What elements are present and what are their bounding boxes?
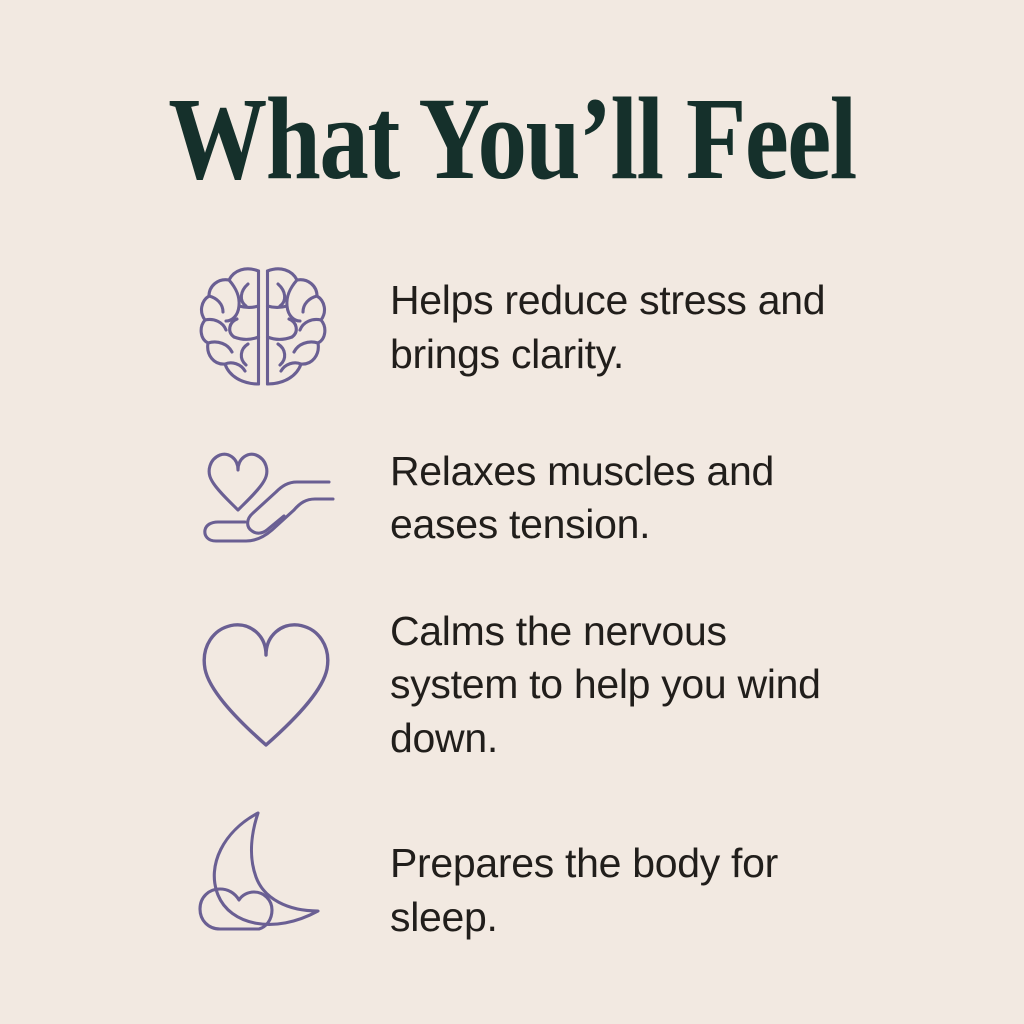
list-item-label: Helps reduce stress and brings clarity. — [390, 274, 860, 381]
page-title: What You’ll Feel — [5, 80, 1019, 198]
list-item: Calms the nervous system to help you win… — [0, 585, 1024, 785]
heart-icon — [196, 619, 346, 751]
list-item-label: Prepares the body for sleep. — [390, 837, 860, 944]
brain-icon — [196, 264, 346, 392]
list-item: Helps reduce stress and brings clarity. — [0, 240, 1024, 415]
promo-card: What You’ll Feel — [0, 0, 1024, 1024]
heart-in-hand-icon — [196, 440, 346, 560]
feature-list: Helps reduce stress and brings clarity. … — [0, 240, 1024, 960]
moon-cloud-icon — [196, 807, 346, 939]
list-item-label: Relaxes muscles and eases tension. — [390, 445, 860, 552]
list-item: Relaxes muscles and eases tension. — [0, 415, 1024, 585]
list-item: Prepares the body for sleep. — [0, 785, 1024, 960]
list-item-label: Calms the nervous system to help you win… — [390, 605, 860, 765]
